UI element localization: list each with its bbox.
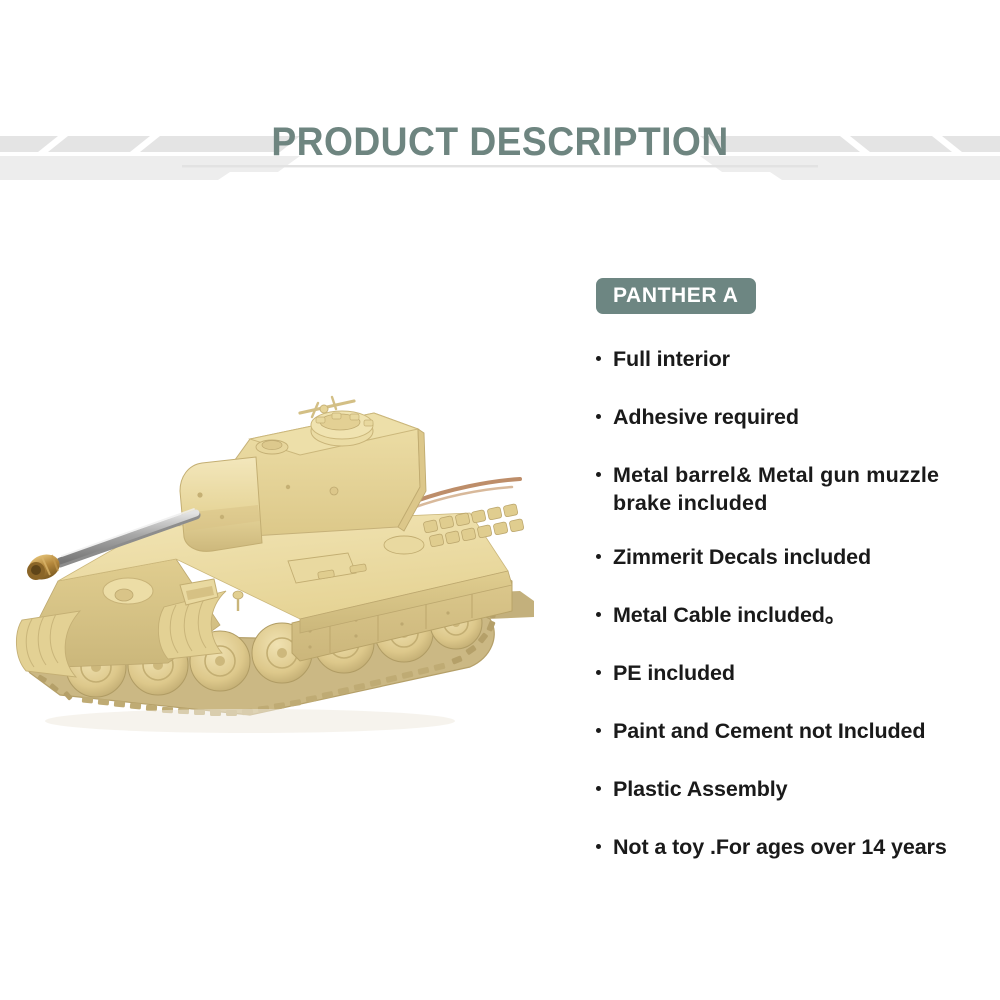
feature-text-line2: brake included xyxy=(613,491,768,515)
feature-item-paint-cement-not-included: Paint and Cement not Included xyxy=(596,717,986,745)
feature-item-full-interior: Full interior xyxy=(596,345,986,373)
bullet-dot-icon xyxy=(596,670,601,675)
feature-text: Metal barrel& Metal gun muzzle xyxy=(613,463,939,487)
tank-shadow xyxy=(45,709,455,733)
product-image-panther-tank xyxy=(0,395,580,745)
bullet-dot-icon xyxy=(596,414,601,419)
model-name-badge: PANTHER A xyxy=(596,278,756,314)
bullet-dot-icon xyxy=(596,356,601,361)
feature-text: Paint and Cement not Included xyxy=(613,719,925,743)
feature-item-metal-cable: Metal Cable included。 xyxy=(596,601,986,629)
feature-item-adhesive-required: Adhesive required xyxy=(596,403,986,431)
bullet-dot-icon xyxy=(596,472,601,477)
bullet-dot-icon xyxy=(596,844,601,849)
tank-muzzle-brake xyxy=(25,550,63,583)
feature-text: Full interior xyxy=(613,347,730,371)
bullet-dot-icon xyxy=(596,554,601,559)
feature-text: PE included xyxy=(613,661,735,685)
tank-tow-cable xyxy=(416,479,520,501)
feature-item-plastic-assembly: Plastic Assembly xyxy=(596,775,986,803)
feature-text: Not a toy .For ages over 14 years xyxy=(613,835,947,859)
bullet-dot-icon xyxy=(596,786,601,791)
feature-list: Full interior Adhesive required Metal ba… xyxy=(596,345,986,861)
feature-text: Zimmerit Decals included xyxy=(613,545,871,569)
feature-text: Plastic Assembly xyxy=(613,777,787,801)
feature-item-age-warning: Not a toy .For ages over 14 years xyxy=(596,833,986,861)
bullet-dot-icon xyxy=(596,612,601,617)
product-spec-panel: PANTHER A Full interior Adhesive require… xyxy=(596,278,986,861)
feature-item-pe-included: PE included xyxy=(596,659,986,687)
feature-item-zimmerit-decals: Zimmerit Decals included xyxy=(596,543,986,571)
feature-item-metal-barrel: Metal barrel& Metal gun muzzle brake inc… xyxy=(596,461,986,517)
feature-text: Metal Cable included。 xyxy=(613,603,846,627)
feature-text: Adhesive required xyxy=(613,405,799,429)
tank-illustration xyxy=(0,395,580,745)
page-title: PRODUCT DESCRIPTION xyxy=(35,118,965,166)
bullet-dot-icon xyxy=(596,728,601,733)
